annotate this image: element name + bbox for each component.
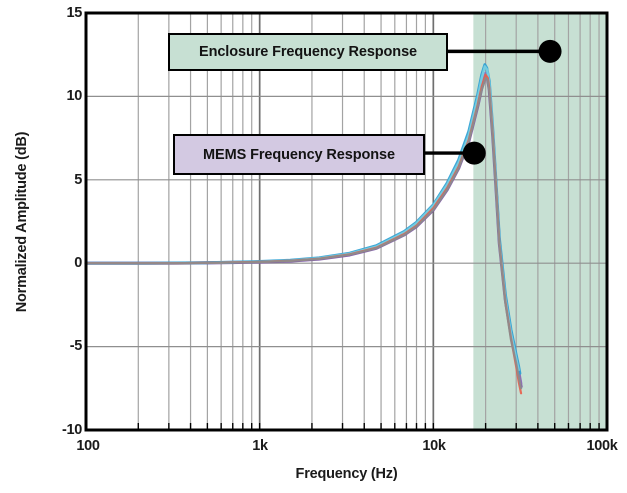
y-axis-title: Normalized Amplitude (dB) (8, 12, 36, 432)
plot-canvas (0, 0, 627, 493)
y-axis-tick-labels: 15 10 5 0 -5 -10 (38, 0, 82, 493)
y-axis-title-container: Normalized Amplitude (dB) (8, 12, 36, 432)
shaded-region-highlight (473, 13, 607, 430)
x-tick-label: 100 (53, 438, 123, 454)
y-tick-label: -10 (42, 422, 82, 438)
annotation-enclosure-frequency-response: Enclosure Frequency Response (168, 33, 448, 71)
y-tick-label: 5 (42, 172, 82, 188)
marker-dot-mems (463, 142, 486, 165)
y-tick-label: 15 (42, 5, 82, 21)
annotation-mems-label: MEMS Frequency Response (203, 147, 395, 163)
marker-dot-enclosure (539, 40, 562, 63)
x-tick-label: 100k (567, 438, 627, 454)
annotation-enclosure-label: Enclosure Frequency Response (199, 44, 417, 60)
x-tick-label: 1k (225, 438, 295, 454)
x-tick-label: 10k (399, 438, 469, 454)
frequency-response-chart: 15 10 5 0 -5 -10 100 1k 10k 100k Normali… (0, 0, 627, 493)
x-axis-title: Frequency (Hz) (86, 466, 607, 482)
y-tick-label: 10 (42, 88, 82, 104)
y-tick-label: 0 (42, 255, 82, 271)
y-tick-label: -5 (42, 338, 82, 354)
annotation-mems-frequency-response: MEMS Frequency Response (173, 134, 425, 175)
